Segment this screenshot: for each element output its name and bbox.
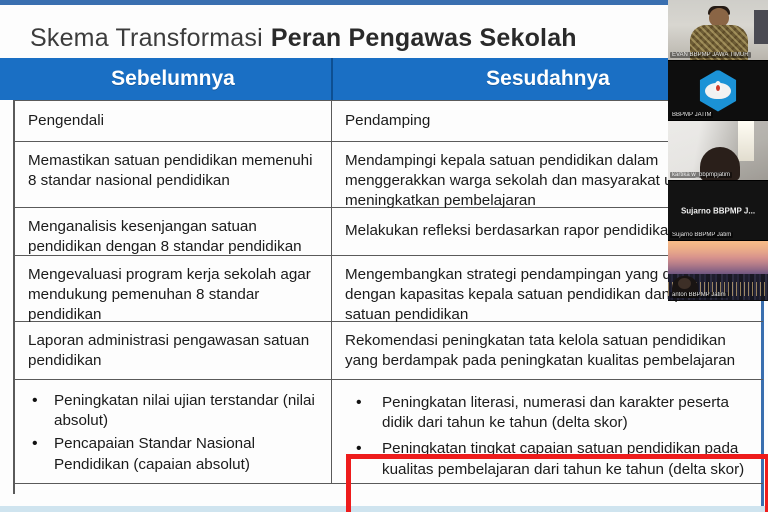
video-tile[interactable]: anton BBPMP Jatim [668, 240, 768, 300]
cell-after-bullets: Peningkatan literasi, numerasi dan karak… [332, 380, 763, 483]
cell-before-bullets: Peningkatan nilai ujian terstandar (nila… [15, 380, 332, 483]
cell-before: Menganalisis kesenjangan satuan pendidik… [15, 208, 332, 255]
participant-name-label: Sujarno BBPMP Jatim [670, 232, 733, 238]
window-light [738, 121, 754, 161]
table-row: Memastikan satuan pendidikan memenuhi 8 … [15, 142, 763, 208]
sunset-sky [668, 241, 768, 275]
page-title-strong: Peran Pengawas Sekolah [271, 24, 577, 53]
participant-name-label: EVAN BBPMP JAWA TIMUR [670, 52, 751, 58]
video-participant-strip[interactable]: EVAN BBPMP JAWA TIMUR BBPMP JATIM kartik… [668, 0, 768, 301]
video-tile[interactable]: BBPMP JATIM [668, 60, 768, 120]
table-left-rail [0, 58, 14, 494]
cell-before: Pengendali [15, 101, 332, 141]
video-tile[interactable]: EVAN BBPMP JAWA TIMUR [668, 0, 768, 60]
table-row: Pengendali Pendamping [15, 100, 763, 142]
comparison-table: Sebelumnya Sesudahnya Pengendali Pendamp… [14, 58, 762, 494]
page-title-normal: Skema Transformasi [30, 24, 263, 53]
slide-top-accent-bar [0, 0, 768, 5]
table-row: Menganalisis kesenjangan satuan pendidik… [15, 208, 763, 256]
table-header-row: Sebelumnya Sesudahnya [14, 58, 762, 100]
participant-name-label: anton BBPMP Jatim [670, 292, 728, 298]
video-tile[interactable]: kartika w_bbpmpjatim [668, 120, 768, 180]
cell-before: Laporan administrasi pengawasan satuan p… [15, 322, 332, 379]
cell-before: Mengevaluasi program kerja sekolah agar … [15, 256, 332, 321]
participant-name-label: kartika w_bbpmpjatim [670, 172, 732, 178]
table-left-rail-header [0, 58, 14, 100]
list-item: Peningkatan literasi, numerasi dan karak… [352, 393, 751, 433]
list-item: Peningkatan tingkat capaian satuan pendi… [352, 439, 751, 479]
table-row-bulleted: Peningkatan nilai ujian terstandar (nila… [15, 380, 763, 484]
list-item: Pencapaian Standar Nasional Pendidikan (… [28, 434, 319, 474]
background-panel [754, 10, 768, 44]
participant-name-label: BBPMP JATIM [670, 112, 713, 118]
cell-before: Memastikan satuan pendidikan memenuhi 8 … [15, 142, 332, 207]
table-body: Pengendali Pendamping Memastikan satuan … [14, 100, 762, 494]
column-header-before: Sebelumnya [15, 58, 331, 100]
slide-bottom-accent-bar [0, 506, 768, 512]
after-bullet-list: Peningkatan literasi, numerasi dan karak… [352, 393, 751, 480]
logo-flame-icon [714, 81, 722, 93]
table-row: Laporan administrasi pengawasan satuan p… [15, 322, 763, 380]
presentation-slide: Skema Transformasi Peran Pengawas Sekola… [0, 0, 768, 512]
table-row: Mengevaluasi program kerja sekolah agar … [15, 256, 763, 322]
page-title: Skema Transformasi Peran Pengawas Sekola… [30, 18, 598, 58]
list-item: Peningkatan nilai ujian terstandar (nila… [28, 391, 319, 431]
cell-after: Rekomendasi peningkatan tata kelola satu… [332, 322, 763, 379]
video-tile[interactable]: Sujarno BBPMP J... Sujarno BBPMP Jatim [668, 180, 768, 240]
participant-center-label: Sujarno BBPMP J... [668, 206, 768, 215]
before-bullet-list: Peningkatan nilai ujian terstandar (nila… [28, 391, 319, 475]
